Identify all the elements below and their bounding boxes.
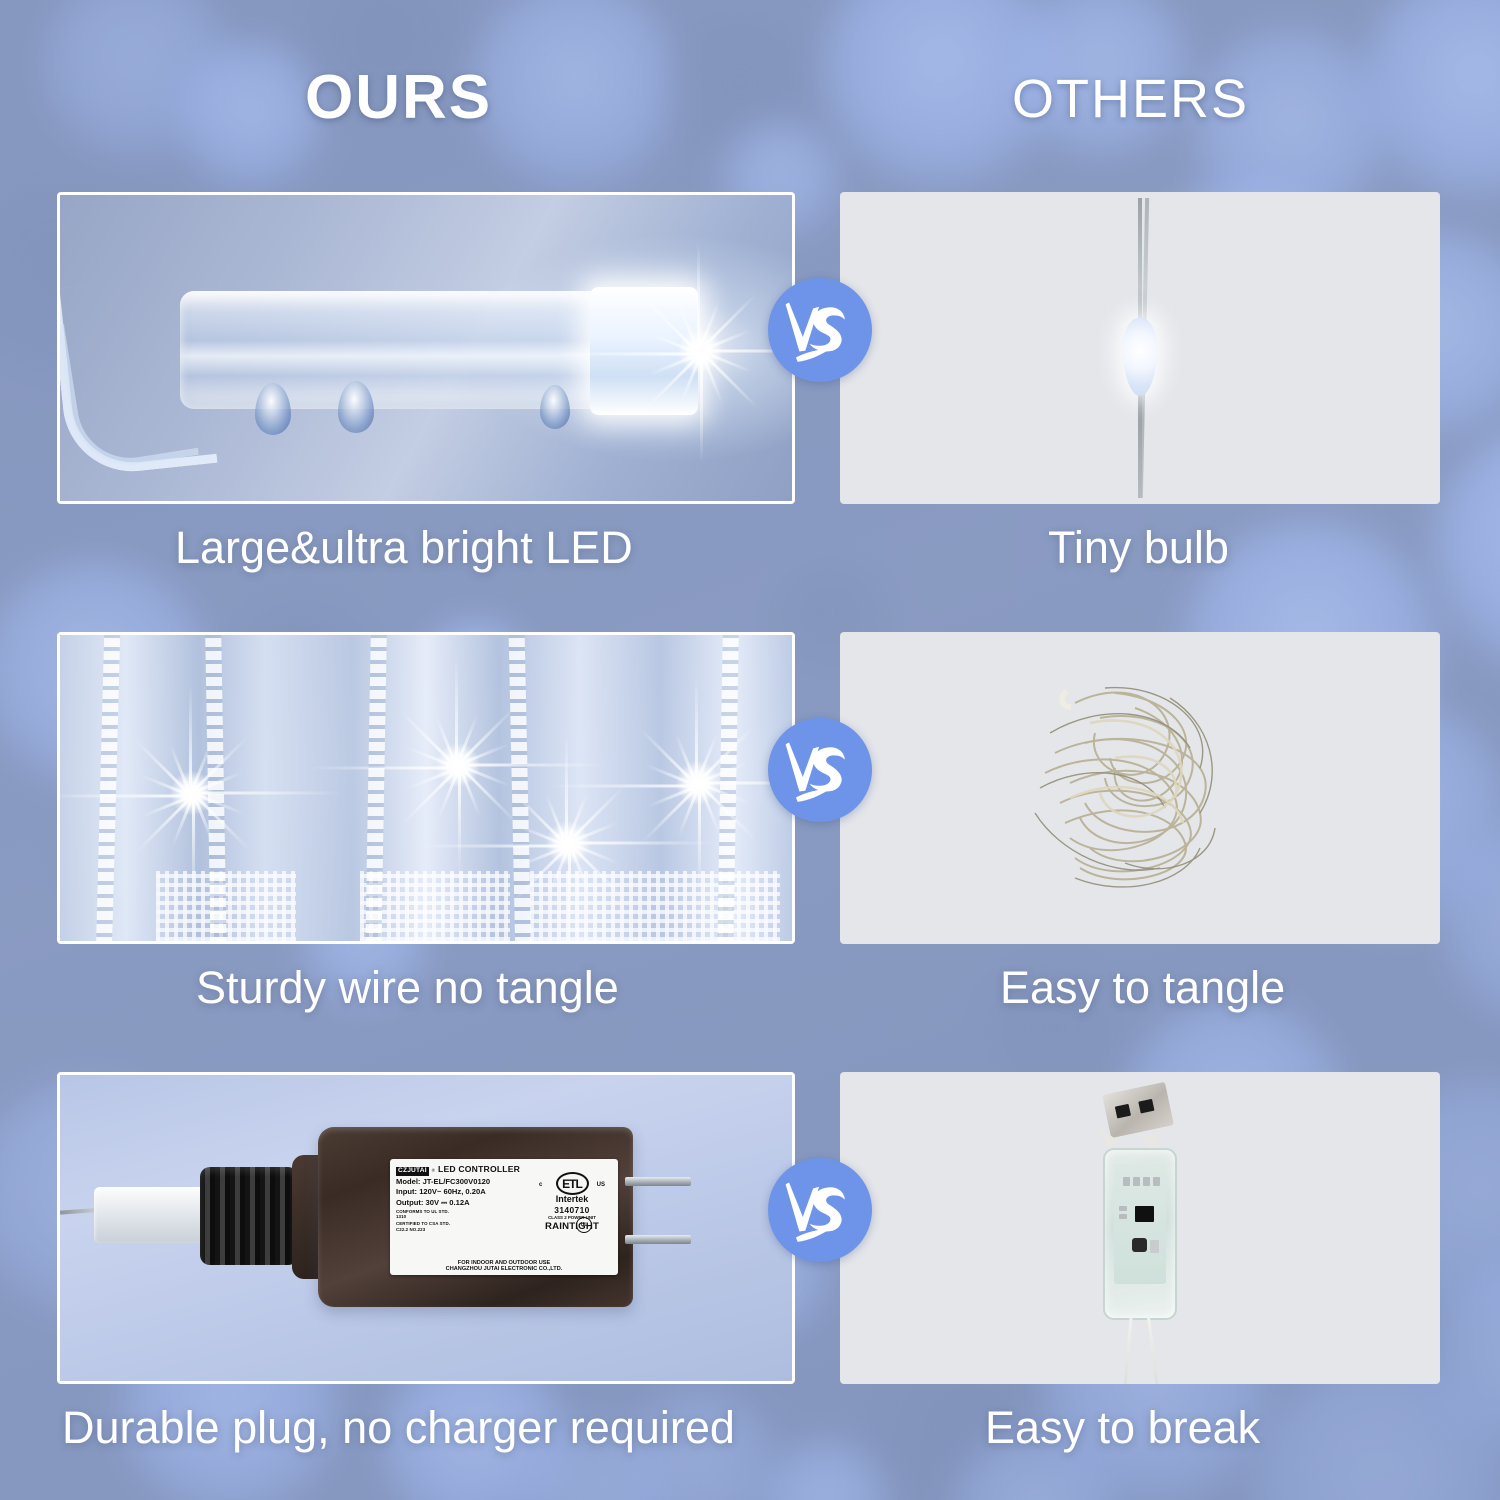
caption-ours-3: Durable plug, no charger required [62, 1402, 735, 1454]
plug-prong-icon [625, 1235, 691, 1244]
button-component [1132, 1238, 1147, 1252]
vs-badge-1 [768, 278, 872, 382]
solder-pad [1133, 1177, 1140, 1186]
threaded-collar-icon [200, 1167, 298, 1265]
comparison-infographic: OURS OTHERS Large&ultra bright LED [0, 0, 1500, 1500]
tiny-led-bulb [1123, 318, 1157, 396]
vs-badge-2 [768, 718, 872, 822]
curtain-mesh-icon [360, 871, 510, 941]
caption-others-3: Easy to break [985, 1402, 1260, 1454]
chip-component [1135, 1206, 1154, 1222]
plug-rating-label: CZJUTAI ® LED CONTROLLER Model: JT-EL/FC… [390, 1159, 618, 1275]
caption-others-2: Easy to tangle [1000, 962, 1285, 1014]
caption-others-1: Tiny bulb [1048, 522, 1229, 574]
usb-connector-icon [1102, 1082, 1174, 1138]
tangled-wire-icon [1015, 663, 1265, 913]
etl-us: US [597, 1182, 605, 1190]
vs-glyph-icon [777, 1167, 863, 1253]
solder-pad [1153, 1177, 1160, 1186]
usb-slot [1115, 1104, 1131, 1119]
intertek-name: Intertek [533, 1194, 611, 1205]
others-image-panel-1 [840, 192, 1440, 504]
label-footer: FOR INDOOR AND OUTDOOR USE CHANGZHOU JUT… [390, 1260, 618, 1273]
solder-pad [1150, 1240, 1159, 1253]
vs-glyph-icon [777, 287, 863, 373]
bulb-emitter-cap [590, 287, 698, 415]
etl-c: c [539, 1182, 542, 1190]
circuit-board [1114, 1164, 1166, 1284]
label-product-title: LED CONTROLLER [438, 1164, 520, 1175]
usb-housing [1103, 1148, 1177, 1320]
vs-badge-3 [768, 1158, 872, 1262]
solder-pad [1143, 1177, 1150, 1186]
others-image-panel-2 [840, 632, 1440, 944]
caption-ours-1: Large&ultra bright LED [175, 522, 633, 574]
white-connector-body [94, 1187, 214, 1243]
header-ours: OURS [305, 62, 492, 133]
raintight-rating: RAINTIGHT [533, 1221, 611, 1233]
vs-glyph-icon [777, 727, 863, 813]
caption-ours-2: Sturdy wire no tangle [196, 962, 619, 1014]
ours-image-panel-1 [57, 192, 795, 504]
others-image-panel-3 [840, 1072, 1440, 1384]
label-registered-mark: ® [432, 1168, 435, 1174]
usb-wire-lead [1147, 1316, 1160, 1384]
broken-usb-image [1080, 1088, 1200, 1384]
label-footer-company: CHANGZHOU JUTAI ELECTRONIC CO.,LTD. [390, 1266, 618, 1272]
etl-certification-mark: ETL c US Intertek 3140710 CLASS 2 POWER … [533, 1172, 611, 1233]
solder-pad [1119, 1214, 1127, 1219]
header-others: OTHERS [1012, 68, 1249, 130]
curtain-mesh-icon [530, 871, 780, 941]
ours-image-panel-3: CZJUTAI ® LED CONTROLLER Model: JT-EL/FC… [57, 1072, 795, 1384]
label-brand: CZJUTAI [396, 1167, 429, 1176]
comparison-row-3: CZJUTAI ® LED CONTROLLER Model: JT-EL/FC… [0, 1072, 1500, 1500]
ours-image-panel-2 [57, 632, 795, 944]
comparison-row-2: Sturdy wire no tangle [0, 632, 1500, 1052]
intertek-number: 3140710 [533, 1205, 611, 1216]
tangled-wire-image [1015, 663, 1265, 913]
usb-slot [1138, 1099, 1154, 1114]
plug-prong-icon [625, 1177, 691, 1186]
usb-wire-lead [1122, 1316, 1132, 1384]
comparison-row-1: Large&ultra bright LED Tiny bulb [0, 192, 1500, 612]
solder-pad [1119, 1206, 1127, 1211]
solder-pad [1123, 1177, 1130, 1186]
